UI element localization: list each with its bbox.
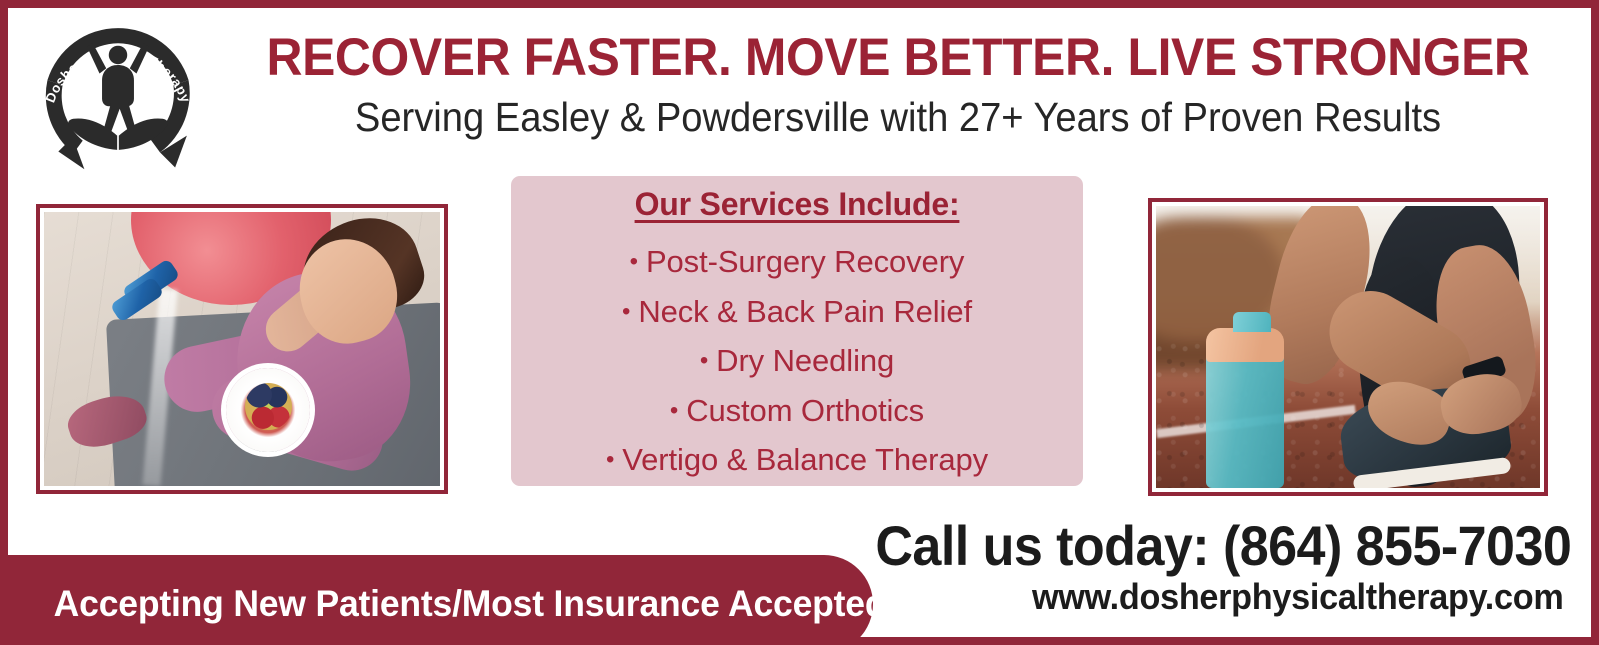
water-bottle-cap xyxy=(1206,328,1284,362)
advertisement-root: Dosher Physical Therapy Associates RECOV… xyxy=(0,0,1599,645)
fruit-bowl xyxy=(226,368,310,452)
services-list: •Post-Surgery Recovery •Neck & Back Pain… xyxy=(511,223,1083,485)
logo-arc-bottom-text: Associates xyxy=(80,140,157,166)
bullet-icon: • xyxy=(700,347,708,374)
subheadline: Serving Easley & Powdersville with 27+ Y… xyxy=(266,96,1531,139)
headline: RECOVER FASTER. MOVE BETTER. LIVE STRONG… xyxy=(259,30,1537,86)
service-label: Dry Needling xyxy=(716,343,894,378)
bullet-icon: • xyxy=(622,298,630,325)
accepting-new-patients-banner: Accepting New Patients/Most Insurance Ac… xyxy=(0,555,873,645)
logo-hands-icon xyxy=(68,119,168,150)
service-label: Post-Surgery Recovery xyxy=(646,244,964,279)
list-item: •Vertigo & Balance Therapy xyxy=(511,435,1083,485)
list-item: •Post-Surgery Recovery xyxy=(511,237,1083,287)
website-url[interactable]: www.dosherphysicaltherapy.com xyxy=(1032,576,1563,618)
services-title: Our Services Include: xyxy=(511,186,1083,223)
logo-figure-icon xyxy=(87,43,149,134)
service-label: Vertigo & Balance Therapy xyxy=(622,442,988,477)
list-item: •Neck & Back Pain Relief xyxy=(511,287,1083,337)
woman-with-fruit-bowl-on-yoga-mat-photo xyxy=(44,212,440,486)
bullet-icon: • xyxy=(630,248,638,275)
water-bottle-neck xyxy=(1233,312,1271,332)
photo-right-frame xyxy=(1148,198,1548,496)
service-label: Neck & Back Pain Relief xyxy=(638,294,972,329)
list-item: •Custom Orthotics xyxy=(511,386,1083,436)
photo-left-frame xyxy=(36,204,448,494)
phone-number[interactable]: Call us today: (864) 855-7030 xyxy=(875,513,1571,578)
service-label: Custom Orthotics xyxy=(686,393,924,428)
cta-banner-text: Accepting New Patients/Most Insurance Ac… xyxy=(0,583,886,625)
dosher-physical-therapy-logo: Dosher Physical Therapy Associates xyxy=(34,18,202,186)
services-box: Our Services Include: •Post-Surgery Reco… xyxy=(511,176,1083,486)
bullet-icon: • xyxy=(670,397,678,424)
svg-text:Associates: Associates xyxy=(80,140,157,166)
bullet-icon: • xyxy=(606,446,614,473)
runner-tying-shoelaces-on-track-photo xyxy=(1156,206,1540,488)
list-item: •Dry Needling xyxy=(511,336,1083,386)
